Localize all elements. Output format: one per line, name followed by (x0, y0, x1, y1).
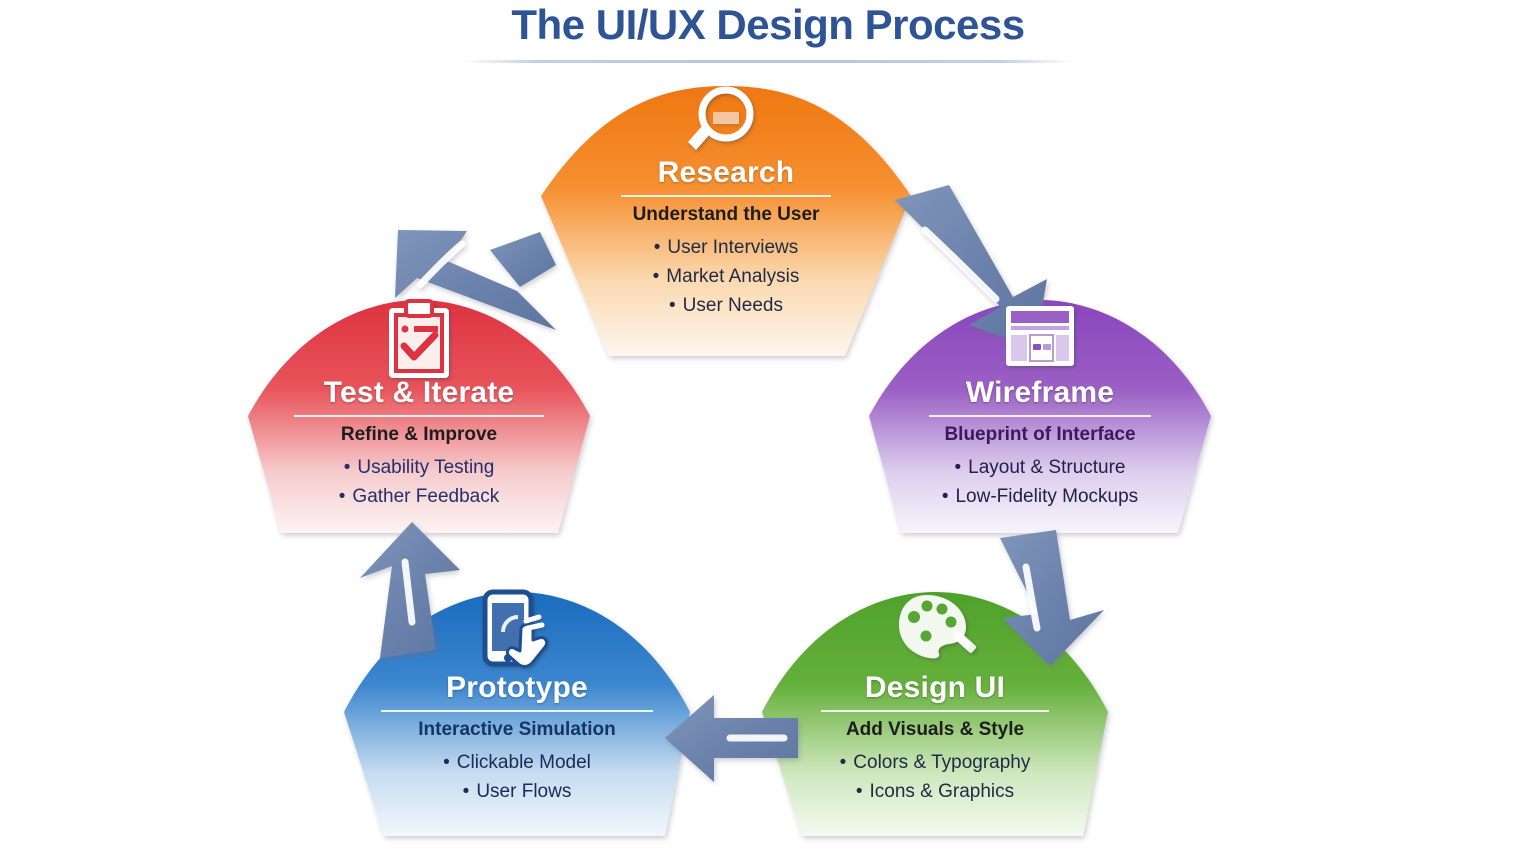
diagram-canvas: The UI/UX Design Process (0, 0, 1536, 864)
wireframe-layout-icon (1006, 306, 1074, 366)
process-cycle-svg (0, 0, 1536, 864)
segment-research[interactable] (541, 86, 911, 356)
clipboard-check-icon (389, 301, 449, 378)
